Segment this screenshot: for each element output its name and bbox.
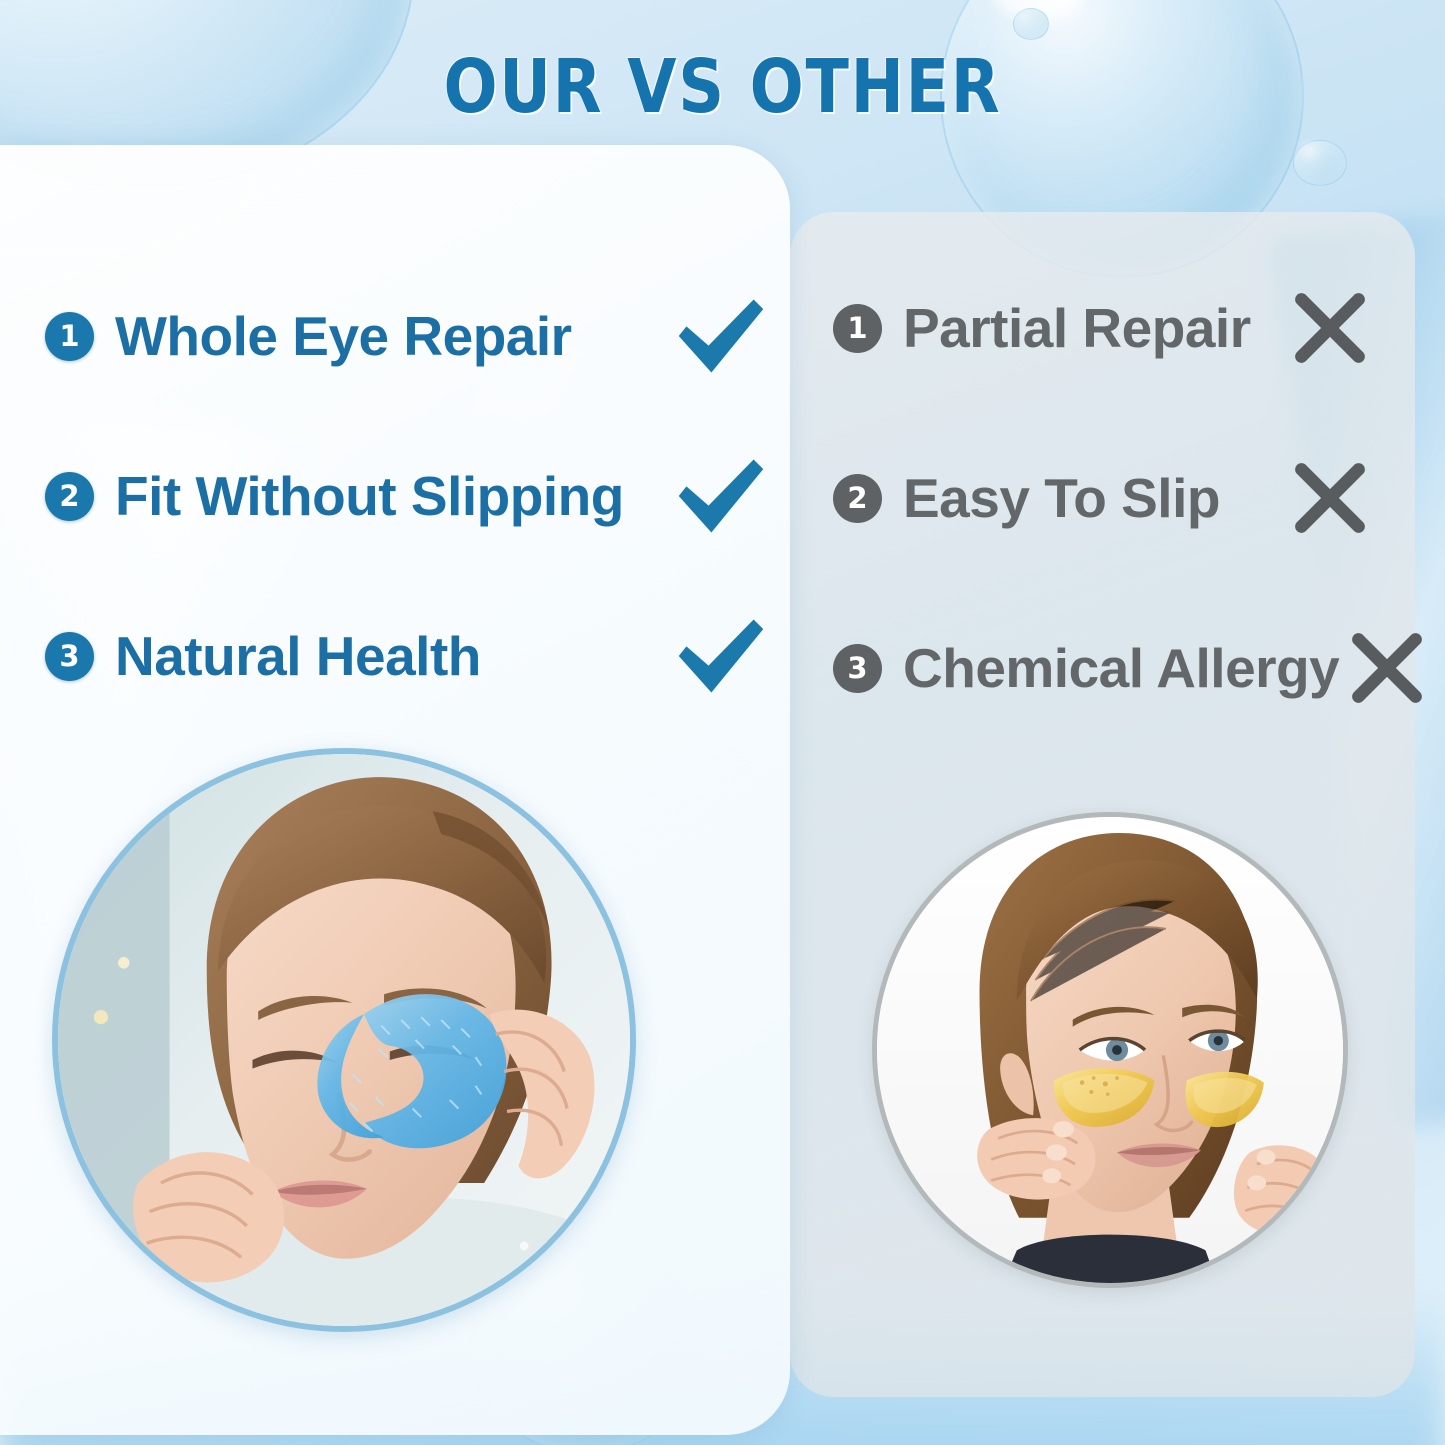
our-feature-label-2: Fit Without Slipping — [115, 464, 624, 528]
other-feature-label-2: Easy To Slip — [903, 466, 1220, 530]
other-feature-row-1: 1 Partial Repair — [833, 282, 1378, 374]
small-bubble-right — [1293, 140, 1347, 186]
our-feature-label-3: Natural Health — [115, 624, 481, 688]
cross-icon — [1282, 280, 1378, 376]
our-feature-row-2: 2 Fit Without Slipping — [45, 450, 785, 542]
number-badge-2: 2 — [833, 474, 882, 523]
our-feature-row-1: 1 Whole Eye Repair — [45, 290, 785, 382]
number-badge-3: 3 — [833, 644, 882, 693]
check-icon — [673, 608, 769, 704]
cross-icon — [1282, 450, 1378, 546]
other-feature-list: 1 Partial Repair 2 Easy To Slip — [833, 282, 1378, 792]
other-feature-row-3: 3 Chemical Allergy — [833, 622, 1378, 714]
comparison-infographic: OUR VS OTHER 1 Whole Eye Repair 2 Fit Wi… — [0, 0, 1445, 1445]
other-product-photo — [872, 812, 1348, 1288]
number-badge-2: 2 — [45, 472, 94, 521]
number-badge-1: 1 — [833, 304, 882, 353]
our-feature-list: 1 Whole Eye Repair 2 Fit Without Slippin… — [45, 290, 785, 770]
cross-icon — [1339, 620, 1435, 716]
our-product-photo — [52, 748, 636, 1332]
other-feature-label-3: Chemical Allergy — [903, 636, 1339, 700]
other-feature-label-1: Partial Repair — [903, 296, 1251, 360]
number-badge-3: 3 — [45, 632, 94, 681]
our-feature-label-1: Whole Eye Repair — [115, 304, 572, 368]
our-feature-row-3: 3 Natural Health — [45, 610, 785, 702]
check-icon — [673, 448, 769, 544]
check-icon — [673, 288, 769, 384]
other-feature-row-2: 2 Easy To Slip — [833, 452, 1378, 544]
small-bubble-top — [1013, 8, 1049, 40]
page-title: OUR VS OTHER — [101, 44, 1344, 130]
number-badge-1: 1 — [45, 312, 94, 361]
